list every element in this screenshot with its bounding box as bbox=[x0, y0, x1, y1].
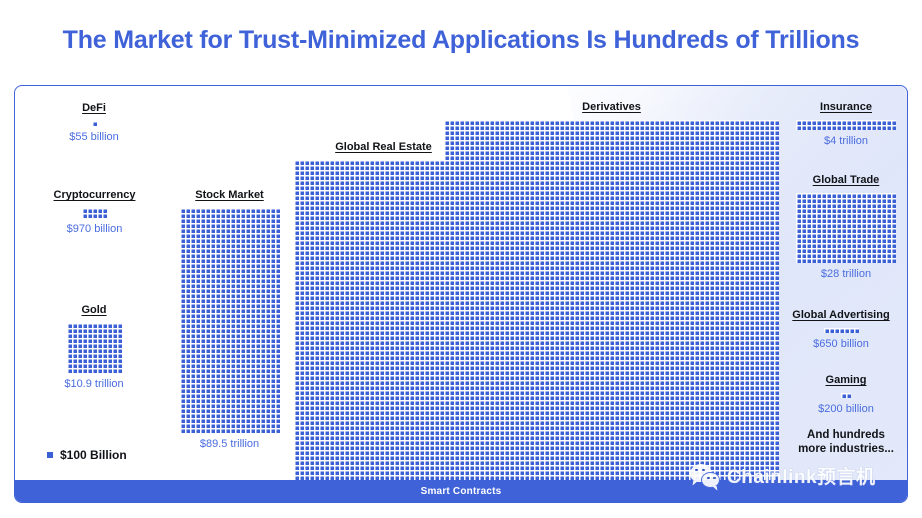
watermark: Chainlink预言机 bbox=[690, 462, 876, 489]
legend-label: $100 Billion bbox=[60, 448, 127, 462]
category-value-insurance: $4 trillion bbox=[786, 135, 906, 147]
category-label-global-trade: Global Trade bbox=[786, 174, 906, 186]
category-value-gaming: $200 billion bbox=[786, 403, 906, 415]
dot-grid-field bbox=[67, 323, 122, 373]
more-industries-line2: more industries... bbox=[786, 442, 906, 456]
infographic-panel: DeFi$55 billionCryptocurrency$970 billio… bbox=[14, 85, 908, 503]
dot-grid-global-advertising bbox=[776, 321, 906, 338]
category-label-gaming: Gaming bbox=[786, 374, 906, 386]
category-block-insurance: Insurance$4 trillion bbox=[786, 101, 906, 147]
watermark-text: Chainlink预言机 bbox=[727, 462, 876, 489]
category-value-global-advertising: $650 billion bbox=[776, 338, 906, 350]
dot-grid-insurance bbox=[786, 113, 906, 135]
dot-grid-field bbox=[796, 193, 896, 263]
category-block-gold: Gold$10.9 trillion bbox=[49, 304, 139, 390]
category-block-global-advertising: Global Advertising$650 billion bbox=[776, 309, 906, 350]
category-label-global-advertising: Global Advertising bbox=[776, 309, 906, 321]
category-value-cryptocurrency: $970 billion bbox=[37, 223, 152, 235]
dot-grid-field bbox=[841, 393, 851, 398]
legend-swatch-icon bbox=[47, 452, 53, 458]
page-title: The Market for Trust-Minimized Applicati… bbox=[0, 26, 922, 55]
category-value-defi: $55 billion bbox=[49, 131, 139, 143]
category-value-stock-market: $89.5 trillion bbox=[161, 438, 298, 450]
wechat-icon bbox=[690, 464, 720, 488]
dot-grid-field bbox=[796, 120, 896, 130]
dot-grid-field bbox=[92, 121, 97, 126]
dot-grid-field bbox=[82, 208, 107, 218]
category-block-derivatives: Derivatives$1 quadrillion bbox=[439, 101, 784, 503]
dot-grid-field bbox=[180, 208, 280, 433]
more-industries-note: And hundreds more industries... bbox=[786, 428, 906, 456]
category-label-cryptocurrency: Cryptocurrency bbox=[37, 189, 152, 201]
dot-grid-gold bbox=[49, 316, 139, 378]
dot-grid-field bbox=[824, 328, 859, 333]
dot-grid-stock-market bbox=[161, 201, 298, 438]
category-value-gold: $10.9 trillion bbox=[49, 378, 139, 390]
category-label-insurance: Insurance bbox=[786, 101, 906, 113]
category-label-stock-market: Stock Market bbox=[161, 189, 298, 201]
dot-grid-defi bbox=[49, 114, 139, 131]
category-block-gaming: Gaming$200 billion bbox=[786, 374, 906, 415]
category-block-cryptocurrency: Cryptocurrency$970 billion bbox=[37, 189, 152, 235]
category-block-global-trade: Global Trade$28 trillion bbox=[786, 174, 906, 280]
category-label-defi: DeFi bbox=[49, 102, 139, 114]
smart-contracts-label: Smart Contracts bbox=[421, 486, 502, 497]
dot-grid-global-trade bbox=[786, 186, 906, 268]
category-label-derivatives: Derivatives bbox=[439, 101, 784, 113]
category-label-gold: Gold bbox=[49, 304, 139, 316]
dot-grid-gaming bbox=[786, 386, 906, 403]
chart-area: DeFi$55 billionCryptocurrency$970 billio… bbox=[15, 86, 907, 502]
legend: $100 Billion bbox=[47, 448, 127, 462]
dot-grid-field bbox=[444, 120, 779, 503]
dot-grid-derivatives bbox=[439, 113, 784, 503]
category-value-global-trade: $28 trillion bbox=[786, 268, 906, 280]
more-industries-line1: And hundreds bbox=[786, 428, 906, 442]
category-block-defi: DeFi$55 billion bbox=[49, 102, 139, 143]
category-block-stock-market: Stock Market$89.5 trillion bbox=[161, 189, 298, 450]
dot-grid-cryptocurrency bbox=[37, 201, 152, 223]
